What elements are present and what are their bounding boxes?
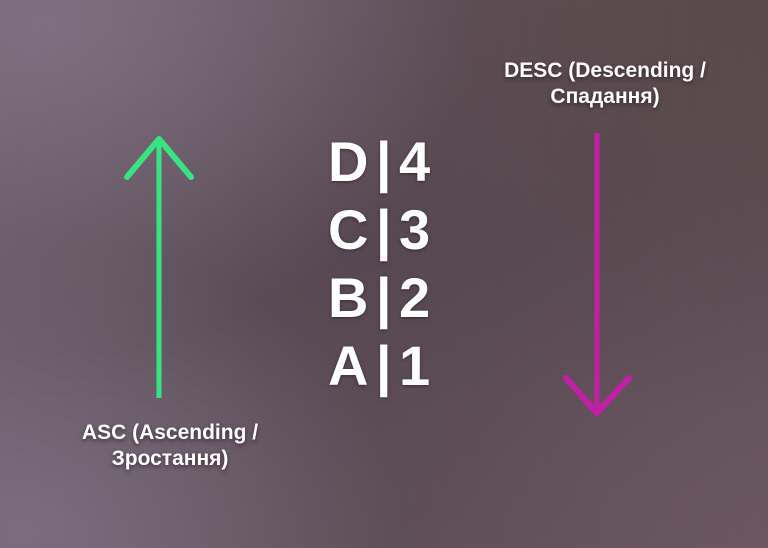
sort-row-letter: C bbox=[323, 196, 369, 264]
sort-row-a: A | 1 bbox=[323, 332, 445, 400]
sort-row-number: 4 bbox=[399, 128, 445, 196]
sort-order-illustration: D | 4 C | 3 B | 2 A | 1 ASC (Ascending /… bbox=[0, 0, 768, 548]
sort-row-separator: | bbox=[369, 128, 399, 196]
sort-row-d: D | 4 bbox=[323, 128, 445, 196]
sort-row-letter: B bbox=[323, 264, 369, 332]
sort-row-letter: D bbox=[323, 128, 369, 196]
desc-label: DESC (Descending / Спадання) bbox=[452, 58, 758, 109]
sort-row-number: 3 bbox=[399, 196, 445, 264]
sort-row-number: 1 bbox=[399, 332, 445, 400]
sort-row-letter: A bbox=[323, 332, 369, 400]
sort-value-column: D | 4 C | 3 B | 2 A | 1 bbox=[0, 128, 768, 400]
sort-row-separator: | bbox=[369, 264, 399, 332]
sort-row-c: C | 3 bbox=[323, 196, 445, 264]
sort-row-number: 2 bbox=[399, 264, 445, 332]
sort-row-separator: | bbox=[369, 196, 399, 264]
sort-row-b: B | 2 bbox=[323, 264, 445, 332]
sort-row-separator: | bbox=[369, 332, 399, 400]
asc-label: ASC (Ascending / Зростання) bbox=[22, 420, 318, 471]
